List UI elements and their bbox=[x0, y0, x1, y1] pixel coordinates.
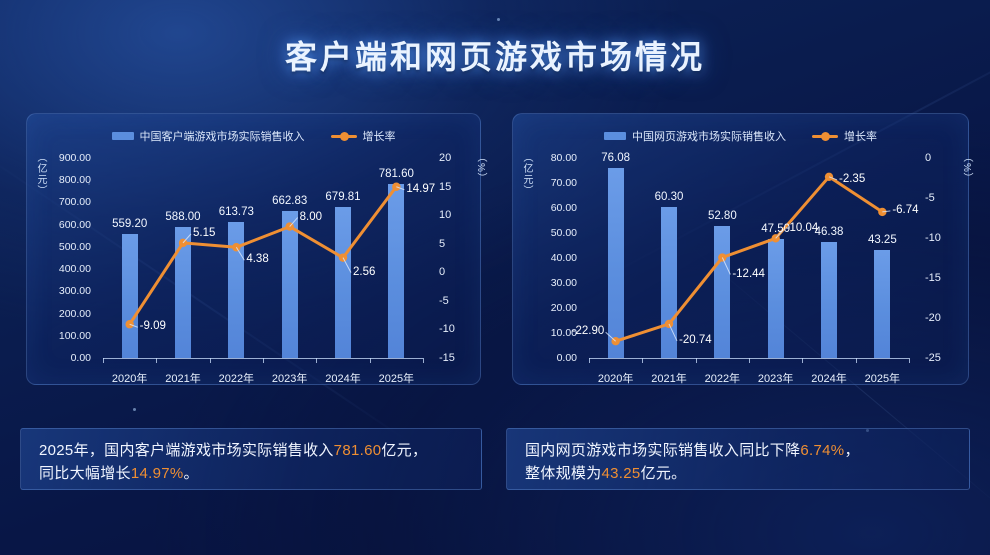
chart-card-client-game-chart: 中国客户端游戏市场实际销售收入增长率（亿元）（%）900.00800.00700… bbox=[26, 113, 481, 385]
caption-highlight-value: 14.97% bbox=[131, 465, 184, 482]
y-axis-right-tick: 0 bbox=[439, 266, 445, 278]
y-axis-right-tick: -10 bbox=[439, 323, 455, 335]
y-axis-right-tick: -20 bbox=[925, 312, 941, 324]
y-axis-right-tick: 10 bbox=[439, 209, 451, 221]
background-dot bbox=[497, 18, 500, 21]
y-axis-left-tick: 0.00 bbox=[513, 352, 577, 364]
y-axis-right-tick: 5 bbox=[439, 238, 445, 250]
legend-item-line[interactable]: 增长率 bbox=[331, 128, 396, 144]
legend-line-label: 增长率 bbox=[363, 128, 396, 144]
x-axis-label: 2021年 bbox=[165, 370, 200, 386]
x-axis-label: 2021年 bbox=[651, 370, 686, 386]
y-axis-left-tick: 600.00 bbox=[27, 219, 91, 231]
y-axis-right-tick: -15 bbox=[925, 272, 941, 284]
line-value-label: 5.15 bbox=[193, 227, 215, 239]
y-axis-left-tick: 40.00 bbox=[513, 252, 577, 264]
caption-text: 。 bbox=[184, 465, 199, 482]
y-axis-left-tick: 80.00 bbox=[513, 152, 577, 164]
caption-highlight-value: 43.25 bbox=[602, 465, 641, 482]
label-leader-line bbox=[343, 258, 351, 273]
legend-bar-swatch-icon bbox=[604, 132, 626, 140]
legend-line-swatch-icon bbox=[331, 135, 357, 138]
x-axis-tick bbox=[696, 358, 697, 363]
x-axis-tick bbox=[856, 358, 857, 363]
line-data-point[interactable] bbox=[665, 320, 673, 328]
legend-bar-label: 中国客户端游戏市场实际销售收入 bbox=[140, 128, 305, 144]
caption-text: 同比大幅增长 bbox=[39, 465, 131, 482]
growth-rate-line bbox=[589, 158, 909, 358]
y-axis-left-tick: 300.00 bbox=[27, 285, 91, 297]
y-axis-left-tick: 400.00 bbox=[27, 263, 91, 275]
caption-highlight-value: 6.74% bbox=[800, 442, 844, 459]
legend-line-label: 增长率 bbox=[844, 128, 877, 144]
label-leader-line bbox=[722, 258, 730, 275]
legend-bar-swatch-icon bbox=[112, 132, 134, 140]
line-value-label: -6.74 bbox=[892, 204, 918, 216]
y-axis-left-tick: 0.00 bbox=[27, 352, 91, 364]
x-axis-label: 2020年 bbox=[112, 370, 147, 386]
y-axis-left-tick: 900.00 bbox=[27, 152, 91, 164]
line-value-label: -9.09 bbox=[140, 320, 166, 332]
label-leader-line bbox=[236, 247, 244, 260]
line-value-label: -12.44 bbox=[732, 268, 765, 280]
x-axis-tick bbox=[749, 358, 750, 363]
y-axis-left-tick: 70.00 bbox=[513, 177, 577, 189]
caption-line: 国内网页游戏市场实际销售收入同比下降6.74%， bbox=[525, 439, 951, 462]
y-axis-right-unit: （%） bbox=[475, 152, 485, 184]
y-axis-right-unit: （%） bbox=[961, 152, 971, 184]
x-axis-label: 2024年 bbox=[325, 370, 360, 386]
chart-legend: 中国网页游戏市场实际销售收入增长率 bbox=[513, 128, 968, 144]
line-value-label: -22.90 bbox=[572, 325, 605, 337]
x-axis-tick bbox=[909, 358, 910, 363]
x-axis-label: 2022年 bbox=[705, 370, 740, 386]
caption-line: 2025年，国内客户端游戏市场实际销售收入781.60亿元， bbox=[39, 439, 463, 462]
x-axis-tick bbox=[423, 358, 424, 363]
bar-value-label: 781.60 bbox=[379, 168, 414, 180]
line-value-label: -2.35 bbox=[839, 173, 865, 185]
label-leader-line bbox=[183, 234, 191, 243]
y-axis-left-tick: 60.00 bbox=[513, 202, 577, 214]
y-axis-left-tick: 10.00 bbox=[513, 327, 577, 339]
y-axis-left-tick: 30.00 bbox=[513, 277, 577, 289]
x-axis-tick bbox=[263, 358, 264, 363]
label-leader-line bbox=[606, 332, 616, 341]
bar-value-label: 46.38 bbox=[815, 226, 844, 238]
y-axis-left-tick: 20.00 bbox=[513, 302, 577, 314]
line-data-point[interactable] bbox=[392, 183, 400, 191]
bar-value-label: 559.20 bbox=[112, 218, 147, 230]
x-axis-tick bbox=[316, 358, 317, 363]
bar-value-label: 588.00 bbox=[165, 211, 200, 223]
legend-item-line[interactable]: 增长率 bbox=[812, 128, 877, 144]
bar-value-label: 613.73 bbox=[219, 206, 254, 218]
bar-value-label: 43.25 bbox=[868, 234, 897, 246]
x-axis-label: 2025年 bbox=[379, 370, 414, 386]
caption-text: 亿元。 bbox=[641, 465, 687, 482]
caption-text: 2025年，国内客户端游戏市场实际销售收入 bbox=[39, 442, 334, 459]
y-axis-right-tick: -15 bbox=[439, 352, 455, 364]
x-axis-label: 2024年 bbox=[811, 370, 846, 386]
x-axis-label: 2023年 bbox=[272, 370, 307, 386]
bar-value-label: 76.08 bbox=[601, 152, 630, 164]
x-axis-tick bbox=[370, 358, 371, 363]
x-axis-label: 2023年 bbox=[758, 370, 793, 386]
caption-web: 国内网页游戏市场实际销售收入同比下降6.74%，整体规模为43.25亿元。 bbox=[506, 428, 970, 490]
line-value-label: 14.97 bbox=[406, 183, 435, 195]
y-axis-left-tick: 50.00 bbox=[513, 227, 577, 239]
caption-client: 2025年，国内客户端游戏市场实际销售收入781.60亿元，同比大幅增长14.9… bbox=[20, 428, 482, 490]
line-value-label: 8.00 bbox=[300, 211, 322, 223]
y-axis-left-tick: 800.00 bbox=[27, 174, 91, 186]
y-axis-right-tick: 15 bbox=[439, 181, 451, 193]
y-axis-right-tick: 0 bbox=[925, 152, 931, 164]
caption-line: 同比大幅增长14.97%。 bbox=[39, 462, 463, 485]
plot-area bbox=[589, 158, 909, 358]
x-axis-tick bbox=[210, 358, 211, 363]
x-axis-tick bbox=[589, 358, 590, 363]
legend-bar-label: 中国网页游戏市场实际销售收入 bbox=[632, 128, 786, 144]
caption-text: 国内网页游戏市场实际销售收入同比下降 bbox=[525, 442, 800, 459]
line-value-label: 2.56 bbox=[353, 266, 375, 278]
legend-item-bar[interactable]: 中国客户端游戏市场实际销售收入 bbox=[112, 128, 305, 144]
y-axis-left-tick: 200.00 bbox=[27, 308, 91, 320]
y-axis-right-tick: -10 bbox=[925, 232, 941, 244]
x-axis-tick bbox=[103, 358, 104, 363]
page-title: 客户端和网页游戏市场情况 bbox=[0, 32, 990, 78]
background-dot bbox=[133, 408, 136, 411]
line-value-label: -10.04 bbox=[786, 222, 819, 234]
y-axis-left-tick: 700.00 bbox=[27, 196, 91, 208]
bar-value-label: 679.81 bbox=[325, 191, 360, 203]
caption-text: 整体规模为 bbox=[525, 465, 602, 482]
y-axis-left-tick: 100.00 bbox=[27, 330, 91, 342]
y-axis-right-tick: -25 bbox=[925, 352, 941, 364]
line-value-label: -20.74 bbox=[679, 334, 712, 346]
legend-line-swatch-icon bbox=[812, 135, 838, 138]
label-leader-line bbox=[669, 324, 677, 341]
x-axis-label: 2022年 bbox=[219, 370, 254, 386]
chart-legend: 中国客户端游戏市场实际销售收入增长率 bbox=[27, 128, 480, 144]
y-axis-right-tick: -5 bbox=[439, 295, 449, 307]
chart-card-web-game-chart: 中国网页游戏市场实际销售收入增长率（亿元）（%）80.0070.0060.005… bbox=[512, 113, 969, 385]
bar-value-label: 60.30 bbox=[655, 191, 684, 203]
label-leader-line bbox=[290, 218, 298, 227]
caption-highlight-value: 781.60 bbox=[334, 442, 382, 459]
line-value-label: 4.38 bbox=[246, 253, 268, 265]
caption-text: 亿元， bbox=[381, 442, 427, 459]
x-axis-label: 2025年 bbox=[865, 370, 900, 386]
x-axis-tick bbox=[156, 358, 157, 363]
x-axis-label: 2020年 bbox=[598, 370, 633, 386]
bar-value-label: 662.83 bbox=[272, 195, 307, 207]
legend-item-bar[interactable]: 中国网页游戏市场实际销售收入 bbox=[604, 128, 786, 144]
caption-line: 整体规模为43.25亿元。 bbox=[525, 462, 951, 485]
x-axis-tick bbox=[642, 358, 643, 363]
caption-text: ， bbox=[844, 442, 859, 459]
bar-value-label: 52.80 bbox=[708, 210, 737, 222]
y-axis-right-tick: -5 bbox=[925, 192, 935, 204]
y-axis-left-tick: 500.00 bbox=[27, 241, 91, 253]
x-axis-tick bbox=[802, 358, 803, 363]
y-axis-right-tick: 20 bbox=[439, 152, 451, 164]
